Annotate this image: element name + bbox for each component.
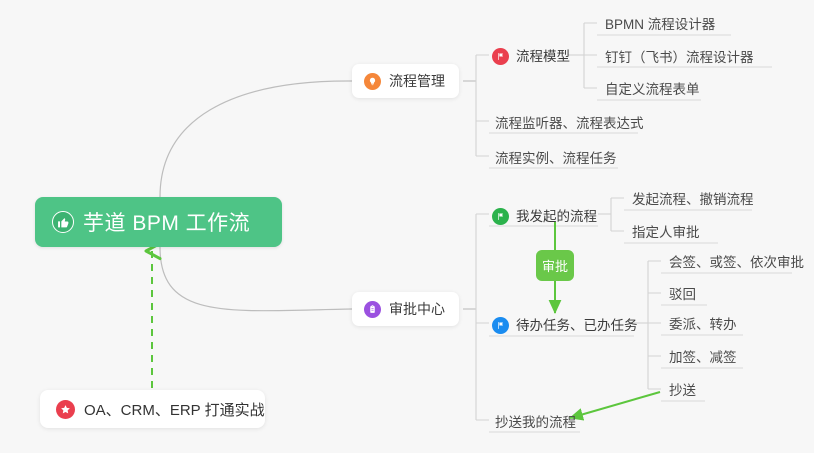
annotation-label: 审批 (542, 256, 568, 275)
flag-icon (492, 208, 509, 225)
lightbulb-icon (364, 73, 381, 90)
node-assignee-approval[interactable]: 指定人审批 (626, 221, 706, 246)
node-add-remove-sign[interactable]: 加签、减签 (663, 346, 743, 371)
thumbs-up-icon (52, 211, 74, 233)
node-oa-crm-erp-callout[interactable]: OA、CRM、ERP 打通实战 (40, 390, 265, 428)
flag-icon (492, 317, 509, 334)
node-label: 流程管理 (389, 71, 445, 91)
node-bpmn-designer[interactable]: BPMN 流程设计器 (599, 13, 721, 38)
edge-pm-vertical (476, 55, 489, 156)
node-label: 流程模型 (516, 48, 570, 65)
arrow-cc-to-my-process (570, 392, 660, 418)
node-countersign-orsign-sequential[interactable]: 会签、或签、依次审批 (663, 251, 810, 276)
node-custom-process-form[interactable]: 自定义流程表单 (599, 78, 706, 103)
node-my-initiated-process[interactable]: 我发起的流程 (492, 205, 603, 230)
node-start-cancel-process[interactable]: 发起流程、撤销流程 (626, 188, 760, 213)
root-label: 芋道 BPM 工作流 (83, 207, 250, 237)
node-process-model[interactable]: 流程模型 (492, 45, 576, 70)
edge-ac-vertical (476, 214, 489, 420)
flag-icon (492, 48, 509, 65)
node-label: 我发起的流程 (516, 208, 597, 225)
node-process-instance-task[interactable]: 流程实例、流程任务 (489, 147, 623, 172)
mindmap-canvas: 芋道 BPM 工作流 流程管理 审批中心 流程模型 流程监听器、流程表达式 流程… (0, 0, 814, 453)
node-carbon-copy[interactable]: 抄送 (663, 379, 702, 404)
node-label: 待办任务、已办任务 (516, 317, 638, 334)
node-label: 审批中心 (389, 299, 445, 319)
edge-root-to-process-management (160, 81, 352, 197)
node-delegate-transfer[interactable]: 委派、转办 (663, 313, 743, 338)
node-approval-center[interactable]: 审批中心 (352, 292, 459, 326)
node-todo-done-task[interactable]: 待办任务、已办任务 (492, 314, 644, 339)
edge-model-vertical (584, 23, 597, 88)
node-reject[interactable]: 驳回 (663, 283, 702, 308)
node-label: OA、CRM、ERP 打通实战 (84, 399, 265, 420)
edge-root-to-approval-center (160, 247, 352, 311)
edge-mine-vertical (611, 198, 624, 231)
annotation-approval-tag[interactable]: 审批 (536, 250, 574, 281)
node-process-listener-expression[interactable]: 流程监听器、流程表达式 (489, 112, 650, 137)
edge-todo-vertical (648, 261, 661, 389)
node-cc-to-me-process[interactable]: 抄送我的流程 (489, 411, 582, 436)
node-dingtalk-feishu-designer[interactable]: 钉钉（飞书）流程设计器 (599, 46, 760, 71)
root-node[interactable]: 芋道 BPM 工作流 (35, 197, 282, 247)
star-icon (56, 400, 75, 419)
clipboard-icon (364, 301, 381, 318)
node-process-management[interactable]: 流程管理 (352, 64, 459, 98)
